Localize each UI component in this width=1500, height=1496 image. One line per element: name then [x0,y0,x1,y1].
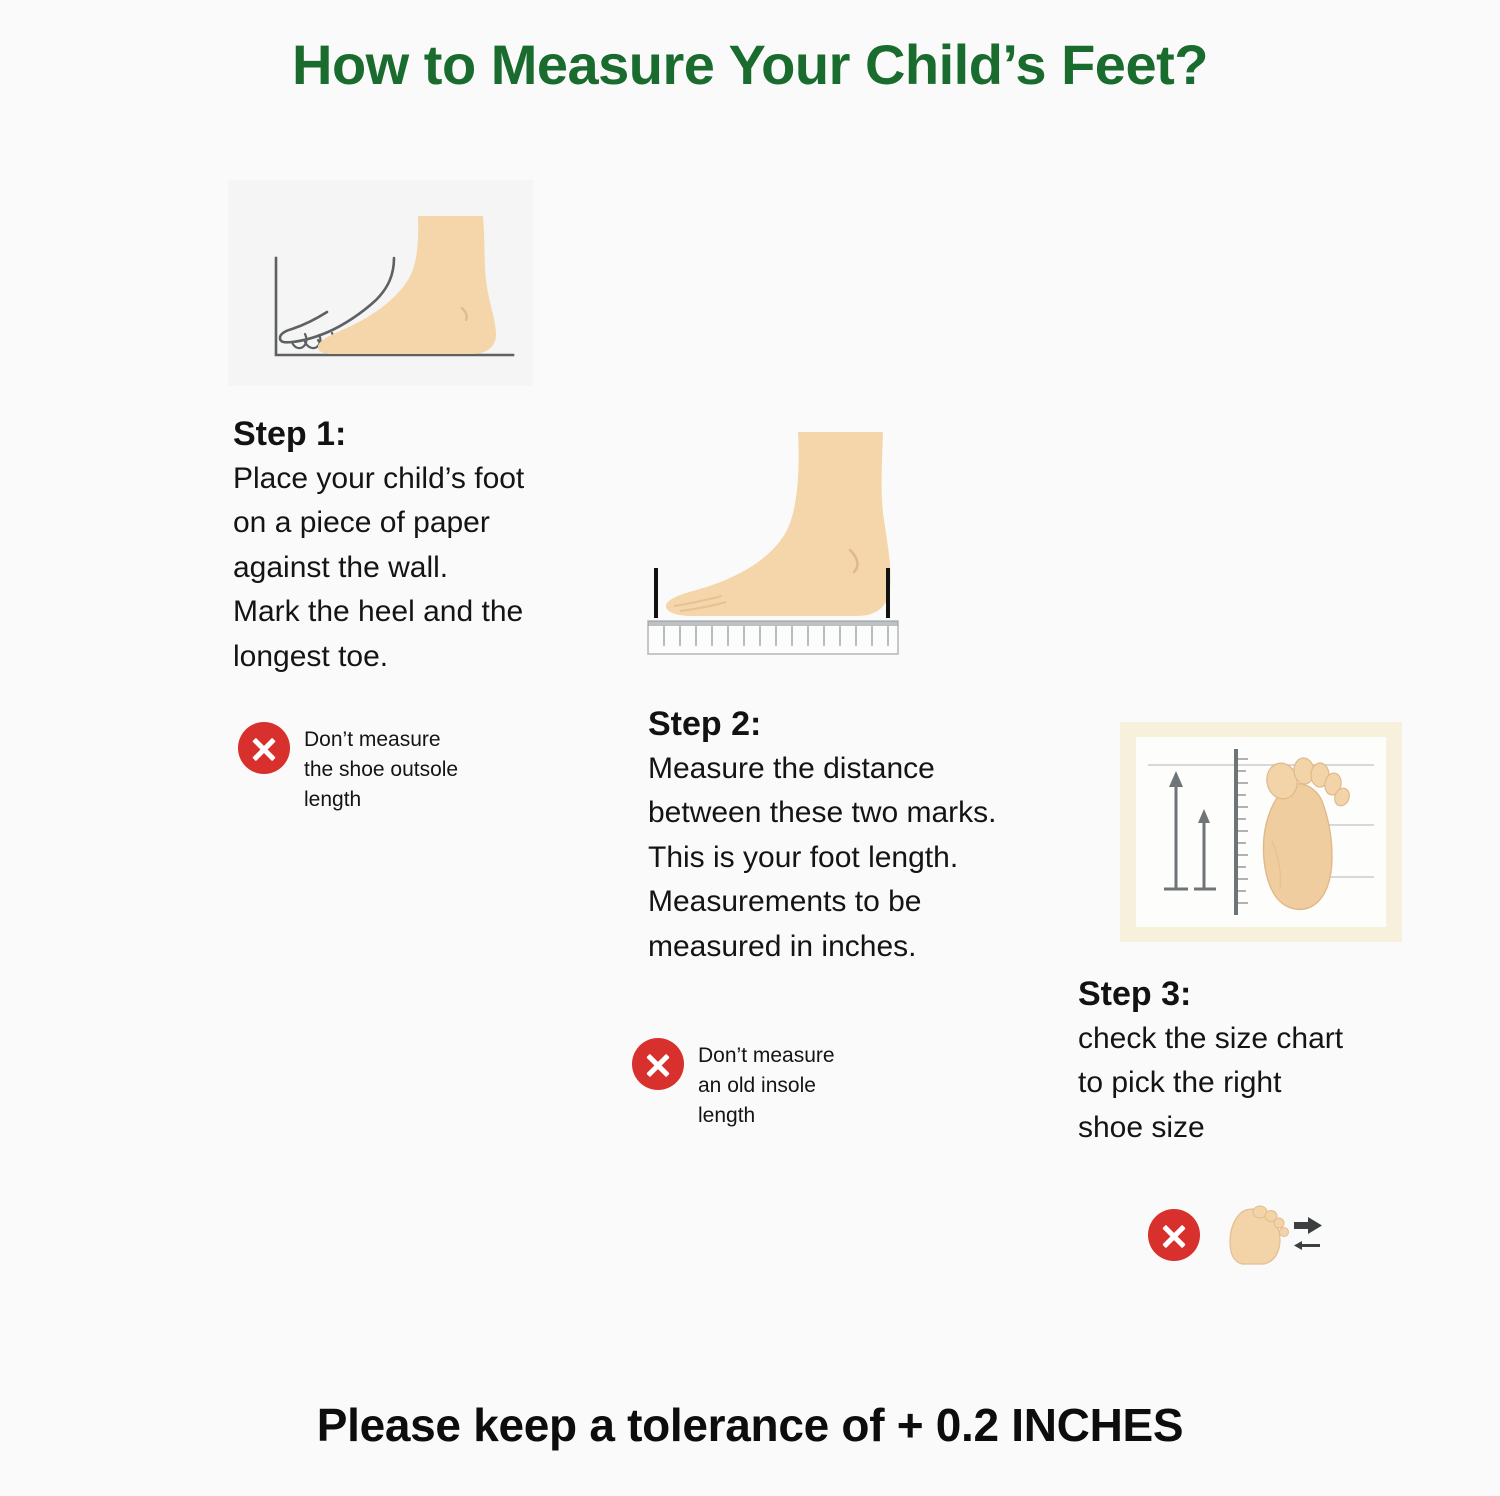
step-3-line-3: shoe size [1078,1106,1428,1150]
step-2-line-5: measured in inches. [648,925,1078,969]
step-3-illustration-frame [1120,722,1402,942]
step-1-line-3: against the wall. [233,546,563,590]
step-1-heading: Step 1: [233,415,563,453]
step-1-warning-line-3: length [304,785,458,815]
step-1-warning-line-2: the shoe outsole [304,755,458,785]
foot-side-view-on-ruler-icon [640,420,940,665]
step-3-text-block: Step 3: check the size chart to pick the… [1078,975,1428,1150]
step-2-text-block: Step 2: Measure the distance between the… [648,705,1078,969]
infographic-page: How to Measure Your Child’s Feet? Step 1… [0,0,1500,1496]
step-1-line-2: on a piece of paper [233,501,563,545]
page-title: How to Measure Your Child’s Feet? [0,32,1500,97]
foot-with-arrows-icon [1216,1200,1326,1270]
step-3-illustration-panel [1136,737,1386,927]
step-1-line-1: Place your child’s foot [233,457,563,501]
footprint-on-measuring-chart-icon [1136,737,1386,927]
red-x-circle-icon [238,722,290,774]
step-1-warning-text: Don’t measure the shoe outsole length [304,722,458,814]
step-1-text-block: Step 1: Place your child’s foot on a pie… [233,415,563,679]
step-2-line-2: between these two marks. [648,791,1078,835]
step-2-warning-text: Don’t measure an old insole length [698,1038,835,1130]
step-3-warning [1148,1200,1326,1270]
step-2-body: Measure the distance between these two m… [648,747,1078,969]
step-3-heading: Step 3: [1078,975,1428,1013]
step-1-warning-line-1: Don’t measure [304,725,458,755]
step-2-warning: Don’t measure an old insole length [632,1038,835,1130]
red-x-circle-icon [632,1038,684,1090]
step-1-line-4: Mark the heel and the [233,590,563,634]
step-1-line-5: longest toe. [233,635,563,679]
red-x-circle-icon [1148,1209,1200,1261]
step-3-line-2: to pick the right [1078,1061,1428,1105]
foot-side-view-against-wall-icon [228,180,533,386]
step-2-warning-line-2: an old insole [698,1071,835,1101]
step-2-warning-line-1: Don’t measure [698,1041,835,1071]
step-2-line-1: Measure the distance [648,747,1078,791]
step-3-body: check the size chart to pick the right s… [1078,1017,1428,1150]
step-3-line-1: check the size chart [1078,1017,1428,1061]
step-1-warning: Don’t measure the shoe outsole length [238,722,458,814]
step-2-heading: Step 2: [648,705,1078,743]
step-1-body: Place your child’s foot on a piece of pa… [233,457,563,679]
step-1-illustration-panel [228,180,533,386]
step-2-line-4: Measurements to be [648,880,1078,924]
tolerance-note: Please keep a tolerance of + 0.2 INCHES [0,1398,1500,1452]
step-2-line-3: This is your foot length. [648,836,1078,880]
step-2-warning-line-3: length [698,1101,835,1131]
step-2-illustration-panel [640,420,940,665]
